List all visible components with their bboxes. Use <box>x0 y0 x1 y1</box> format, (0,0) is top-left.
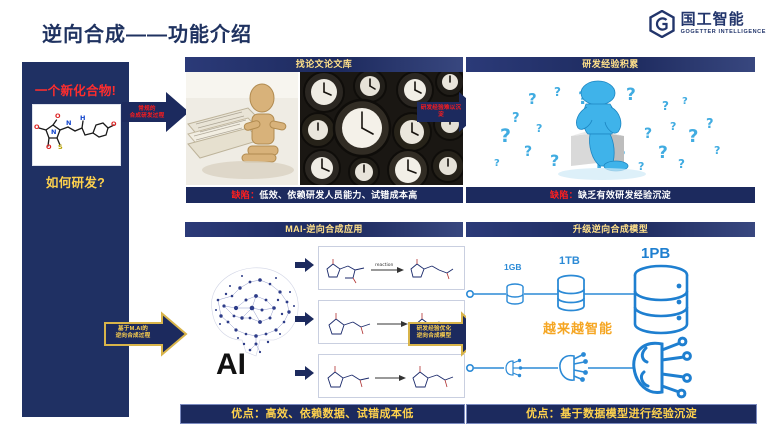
arrow-optimize-model-label: 研发经验优化 逆向合成模型 <box>411 326 457 340</box>
svg-text:1PB: 1PB <box>641 245 670 262</box>
quadrant-caption-bottom-left: 优点：高效、依赖数据、试错成本低 <box>180 404 465 424</box>
svg-text:1TB: 1TB <box>559 255 580 267</box>
arrow-optimize-model-line1: 研发经验优化 <box>411 326 457 333</box>
thinking-person-question-marks-illustration: ? ? ? ? ? ? ? ? ? ? ? ? ? ? ? ? ? ? ? ? <box>466 74 755 184</box>
svg-text:?: ? <box>658 143 668 163</box>
wooden-mannequin-reading-book-photo <box>186 72 298 185</box>
molecule-structure-icon: O O O O N H N S <box>32 104 121 166</box>
quadrant-caption-top-right: 缺陷：缺乏有效研发经验沉淀 <box>466 187 755 203</box>
how-to-develop-label: 如何研发? <box>22 172 129 191</box>
merit-text-bottom-left: 高效、依赖数据、试错成本低 <box>266 408 414 420</box>
caption-key-top-right: 缺陷： <box>550 190 578 200</box>
caption-key-top-left: 缺陷： <box>231 190 259 200</box>
logo-text-cn: 国工智能 <box>681 12 766 27</box>
svg-text:N: N <box>66 119 71 127</box>
new-compound-label: 一个新化合物! <box>22 80 129 99</box>
svg-text:?: ? <box>524 144 532 160</box>
mini-arrow-icon-3 <box>295 366 315 380</box>
svg-text:?: ? <box>644 126 652 142</box>
hexagon-g-logo-icon <box>649 10 675 38</box>
arrow-mai-process-line1: 基于M.AI的 <box>108 326 158 333</box>
quadrant-header-bottom-left: MAI-逆向合成应用 <box>185 222 463 237</box>
svg-text:H: H <box>80 114 85 122</box>
svg-text:?: ? <box>528 90 537 108</box>
merit-key-bottom-right: 优点： <box>526 408 560 420</box>
arrow-experience-hard-line2: 淀 <box>420 112 462 119</box>
caption-text-top-right: 缺乏有效研发经验沉淀 <box>578 190 671 200</box>
svg-text:O: O <box>111 120 117 128</box>
arrow-conventional-label: 常规的 合成研发过程 <box>126 106 168 120</box>
mini-arrow-icon-1 <box>295 258 315 272</box>
svg-text:?: ? <box>670 120 676 133</box>
slide-canvas: 逆向合成——功能介绍 国工智能 GOGETTER INTELLIGENCE 一个… <box>0 0 780 438</box>
svg-text:S: S <box>58 143 63 151</box>
svg-text:?: ? <box>688 126 698 147</box>
svg-text:?: ? <box>550 151 559 170</box>
svg-text:?: ? <box>512 111 520 126</box>
reaction-scheme-card-3 <box>318 354 465 398</box>
quadrant-header-top-left: 找论文论文库 <box>185 57 463 72</box>
merit-key-bottom-left: 优点： <box>231 408 265 420</box>
svg-text:?: ? <box>706 117 714 132</box>
svg-text:O: O <box>46 143 52 151</box>
logo-text-en: GOGETTER INTELLIGENCE <box>681 30 766 36</box>
arrow-experience-hard-label: 研发经验难以沉 淀 <box>420 105 462 119</box>
svg-text:?: ? <box>536 122 542 135</box>
svg-text:?: ? <box>494 158 500 169</box>
quadrant-header-bottom-right: 升级逆向合成模型 <box>466 222 755 237</box>
merit-text-bottom-right: 基于数据模型进行经验沉淀 <box>560 408 697 420</box>
caption-text-top-left: 低效、依赖研发人员能力、试错成本高 <box>259 190 417 200</box>
svg-text:?: ? <box>682 96 688 107</box>
svg-text:?: ? <box>662 99 669 113</box>
arrow-optimize-model-line2: 逆向合成模型 <box>411 333 457 340</box>
arrow-mai-process-label: 基于M.AI的 逆向合成过程 <box>108 326 158 340</box>
svg-text:reaction: reaction <box>375 262 394 268</box>
svg-text:1GB: 1GB <box>504 262 521 272</box>
svg-text:O: O <box>55 112 61 120</box>
quadrant-caption-top-left: 缺陷：低效、依赖研发人员能力、试错成本高 <box>186 187 463 203</box>
left-compound-panel: 一个新化合物! <box>22 62 129 417</box>
arrow-experience-hard-line1: 研发经验难以沉 <box>420 105 462 112</box>
arrow-mai-process-line2: 逆向合成过程 <box>108 333 158 340</box>
svg-text:?: ? <box>500 125 511 147</box>
svg-text:?: ? <box>714 144 720 157</box>
arrow-conventional-line2: 合成研发过程 <box>126 113 168 120</box>
svg-text:?: ? <box>554 85 561 99</box>
reaction-scheme-card-1: reaction <box>318 246 465 290</box>
svg-text:?: ? <box>626 85 636 105</box>
mini-arrow-icon-2 <box>295 312 315 326</box>
svg-text:N: N <box>51 128 56 136</box>
quadrant-caption-bottom-right: 优点：基于数据模型进行经验沉淀 <box>466 404 757 424</box>
page-title: 逆向合成——功能介绍 <box>42 18 252 47</box>
arrow-conventional-line1: 常规的 <box>126 106 168 113</box>
brand-logo: 国工智能 GOGETTER INTELLIGENCE <box>649 10 766 38</box>
increasingly-smart-label: 越来越智能 <box>543 318 613 337</box>
svg-text:AI: AI <box>216 348 246 381</box>
quadrant-header-top-right: 研发经验积累 <box>466 57 755 72</box>
svg-text:O: O <box>34 123 40 131</box>
svg-text:?: ? <box>678 157 685 171</box>
